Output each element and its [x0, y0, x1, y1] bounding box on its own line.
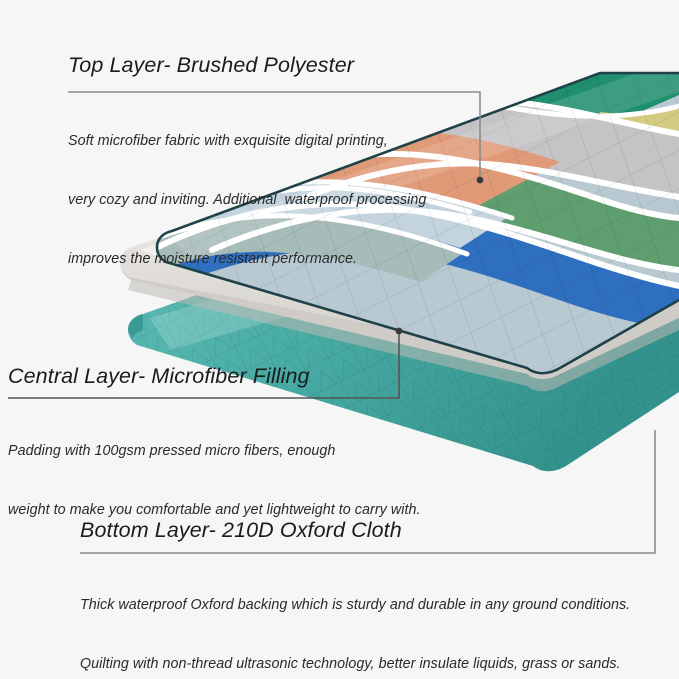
callout-top-layer: Top Layer- Brushed Polyester Soft microf…: [68, 52, 426, 309]
callout-top-body-line-3: improves the moisture resistant performa…: [68, 250, 426, 270]
callout-central-heading: Central Layer- Microfiber Filling: [8, 363, 421, 390]
callout-top-body: Soft microfiber fabric with exquisite di…: [68, 93, 426, 309]
callout-central-body-line-1: Padding with 100gsm pressed micro fibers…: [8, 442, 421, 462]
callout-bottom-body: Thick waterproof Oxford backing which is…: [80, 557, 630, 679]
callout-bottom-body-line-2: Quilting with non-thread ultrasonic tech…: [80, 655, 630, 675]
callout-top-body-line-2: very cozy and inviting. Additional water…: [68, 191, 426, 211]
product-infographic: Top Layer- Brushed Polyester Soft microf…: [0, 0, 679, 679]
callout-bottom-layer: Bottom Layer- 210D Oxford Cloth Thick wa…: [80, 517, 630, 679]
callout-bottom-heading: Bottom Layer- 210D Oxford Cloth: [80, 517, 630, 544]
callout-top-heading: Top Layer- Brushed Polyester: [68, 52, 426, 79]
callout-bottom-body-line-1: Thick waterproof Oxford backing which is…: [80, 596, 630, 616]
callout-top-body-line-1: Soft microfiber fabric with exquisite di…: [68, 132, 426, 152]
